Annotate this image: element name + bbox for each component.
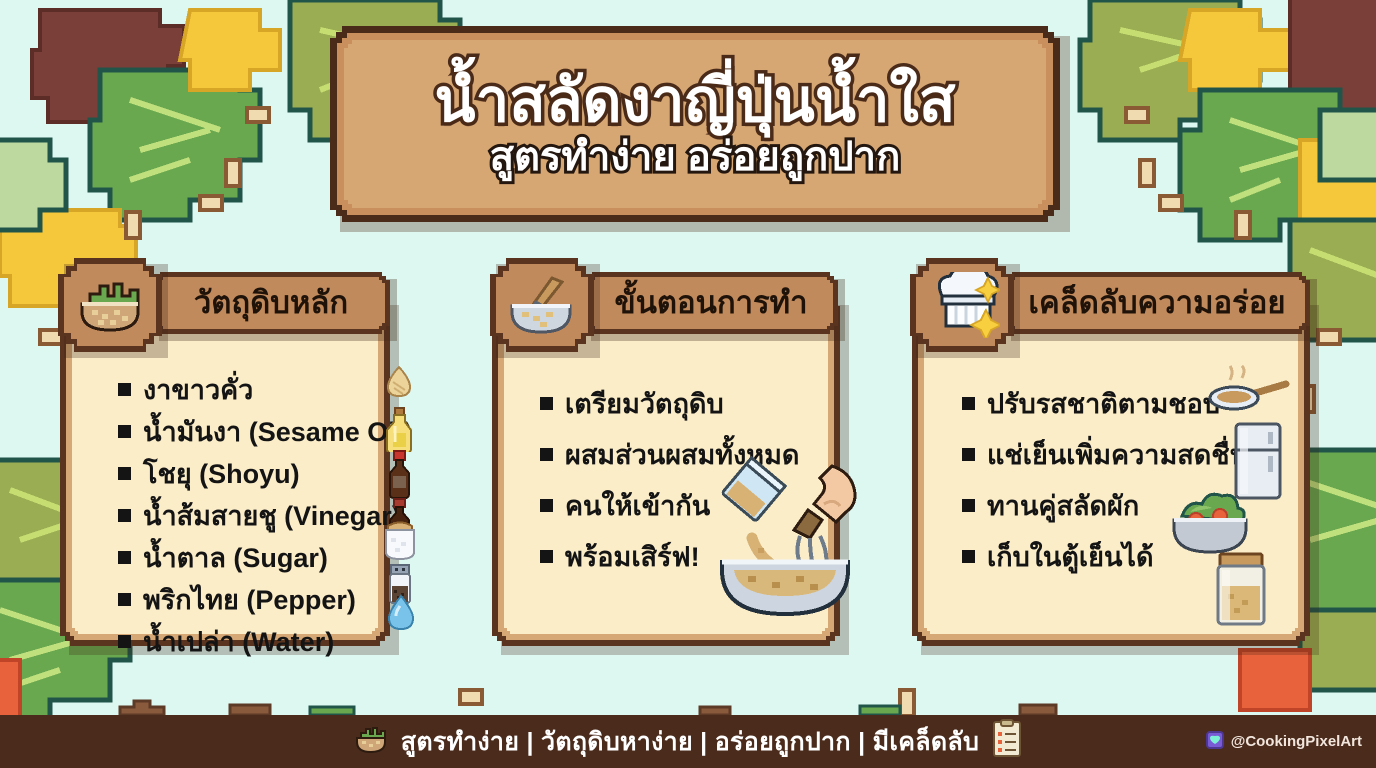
list-item-label: ปรับรสชาติตามชอบ bbox=[987, 382, 1220, 425]
list-item: น้ำมันงา (Sesame Oil) bbox=[118, 410, 418, 452]
badge-tips bbox=[910, 258, 1014, 352]
title-banner: น้ำสลัดงาญี่ปุ่นน้ำใส สูตรทำง่าย อร่อยถู… bbox=[330, 26, 1060, 222]
list-item-label: น้ำตาล (Sugar) bbox=[143, 536, 328, 579]
clipboard-checklist-icon bbox=[991, 719, 1023, 764]
bullet-icon bbox=[118, 467, 131, 480]
list-item: โชยุ (Shoyu) bbox=[118, 452, 418, 494]
list-item-label: น้ำมันงา (Sesame Oil) bbox=[143, 410, 412, 453]
footer-handle-group[interactable]: @CookingPixelArt bbox=[1206, 731, 1362, 753]
card-header-label: วัตถุดิบหลัก bbox=[152, 272, 390, 334]
bullet-icon bbox=[540, 499, 553, 512]
list-item: น้ำเปล่า (Water) bbox=[118, 620, 418, 662]
bullet-icon bbox=[962, 550, 975, 563]
mixing-bowl-whisk-icon bbox=[490, 258, 594, 352]
card-header-tips: เคล็ดลับความอร่อย bbox=[1004, 272, 1310, 334]
hand-whisking-bowl-icon bbox=[700, 452, 870, 628]
salad-bowl-icon bbox=[1168, 486, 1252, 558]
bullet-icon bbox=[118, 383, 131, 396]
footer-tagline: สูตรทำง่าย | วัตถุดิบหาง่าย | อร่อยถูกปา… bbox=[401, 722, 979, 762]
list-item-label: โชยุ (Shoyu) bbox=[143, 452, 300, 495]
list-item-label: แช่เย็นเพิ่มความสดชื่น bbox=[987, 433, 1248, 476]
salad-bowl-icon bbox=[353, 723, 389, 760]
list-item-label: ทานคู่สลัดผัก bbox=[987, 484, 1139, 527]
card-header-label: เคล็ดลับความอร่อย bbox=[1004, 272, 1310, 334]
bullet-icon bbox=[962, 499, 975, 512]
bullet-icon bbox=[118, 593, 131, 606]
list-item-label: น้ำเปล่า (Water) bbox=[143, 620, 334, 663]
sesame-seed-icon bbox=[382, 364, 416, 398]
footer-bar: สูตรทำง่าย | วัตถุดิบหาง่าย | อร่อยถูกปา… bbox=[0, 715, 1376, 768]
infographic-canvas: น้ำสลัดงาญี่ปุ่นน้ำใส สูตรทำง่าย อร่อยถู… bbox=[0, 0, 1376, 768]
list-item-label: น้ำส้มสายชู (Vinegar) bbox=[143, 494, 401, 537]
storage-jar-icon bbox=[1212, 552, 1270, 628]
list-item-label: งาขาวคั่ว bbox=[143, 368, 253, 411]
sugar-jar-icon bbox=[382, 516, 418, 562]
bullet-icon bbox=[540, 550, 553, 563]
ingredients-list: งาขาวคั่ว น้ำมันงา (Sesame Oil) โชยุ (Sh… bbox=[118, 368, 418, 662]
card-header-ingredients: วัตถุดิบหลัก bbox=[152, 272, 390, 334]
tasting-spoon-icon bbox=[1208, 364, 1290, 412]
bullet-icon bbox=[540, 448, 553, 461]
bullet-icon bbox=[118, 551, 131, 564]
title-text-group: น้ำสลัดงาญี่ปุ่นน้ำใส สูตรทำง่าย อร่อยถู… bbox=[330, 26, 1060, 222]
list-item: พริกไทย (Pepper) bbox=[118, 578, 418, 620]
card-header-label: ขั้นตอนการทำ bbox=[584, 272, 838, 334]
chef-hat-icon bbox=[910, 258, 1014, 352]
list-item: งาขาวคั่ว bbox=[118, 368, 418, 410]
badge-ingredients bbox=[58, 258, 162, 352]
footer-center-group: สูตรทำง่าย | วัตถุดิบหาง่าย | อร่อยถูกปา… bbox=[353, 719, 1023, 764]
list-item: น้ำตาล (Sugar) bbox=[118, 536, 418, 578]
list-item-label: เก็บในตู้เย็นได้ bbox=[987, 535, 1154, 578]
bullet-icon bbox=[962, 448, 975, 461]
bullet-icon bbox=[540, 397, 553, 410]
bullet-icon bbox=[118, 635, 131, 648]
bullet-icon bbox=[118, 425, 131, 438]
oil-bottle-icon bbox=[384, 406, 414, 452]
list-item: เตรียมวัตถุดิบ bbox=[540, 378, 840, 429]
salad-bowl-icon bbox=[58, 258, 162, 352]
water-drop-icon bbox=[386, 594, 416, 632]
card-header-steps: ขั้นตอนการทำ bbox=[584, 272, 838, 334]
soil-strip bbox=[0, 697, 1376, 715]
page-subtitle: สูตรทำง่าย อร่อยถูกปาก bbox=[490, 134, 901, 180]
footer-handle-label: @CookingPixelArt bbox=[1231, 733, 1362, 750]
page-title: น้ำสลัดงาญี่ปุ่นน้ำใส bbox=[435, 69, 956, 132]
badge-steps bbox=[490, 258, 594, 352]
list-item-label: เตรียมวัตถุดิบ bbox=[565, 382, 724, 425]
list-item-label: พร้อมเสิร์ฟ! bbox=[565, 535, 700, 578]
app-badge-icon bbox=[1206, 731, 1224, 753]
soy-sauce-bottle-icon bbox=[384, 450, 414, 500]
bullet-icon bbox=[118, 509, 131, 522]
list-item: น้ำส้มสายชู (Vinegar) bbox=[118, 494, 418, 536]
list-item-label: คนให้เข้ากัน bbox=[565, 484, 710, 527]
list-item-label: พริกไทย (Pepper) bbox=[143, 578, 356, 621]
bullet-icon bbox=[962, 397, 975, 410]
